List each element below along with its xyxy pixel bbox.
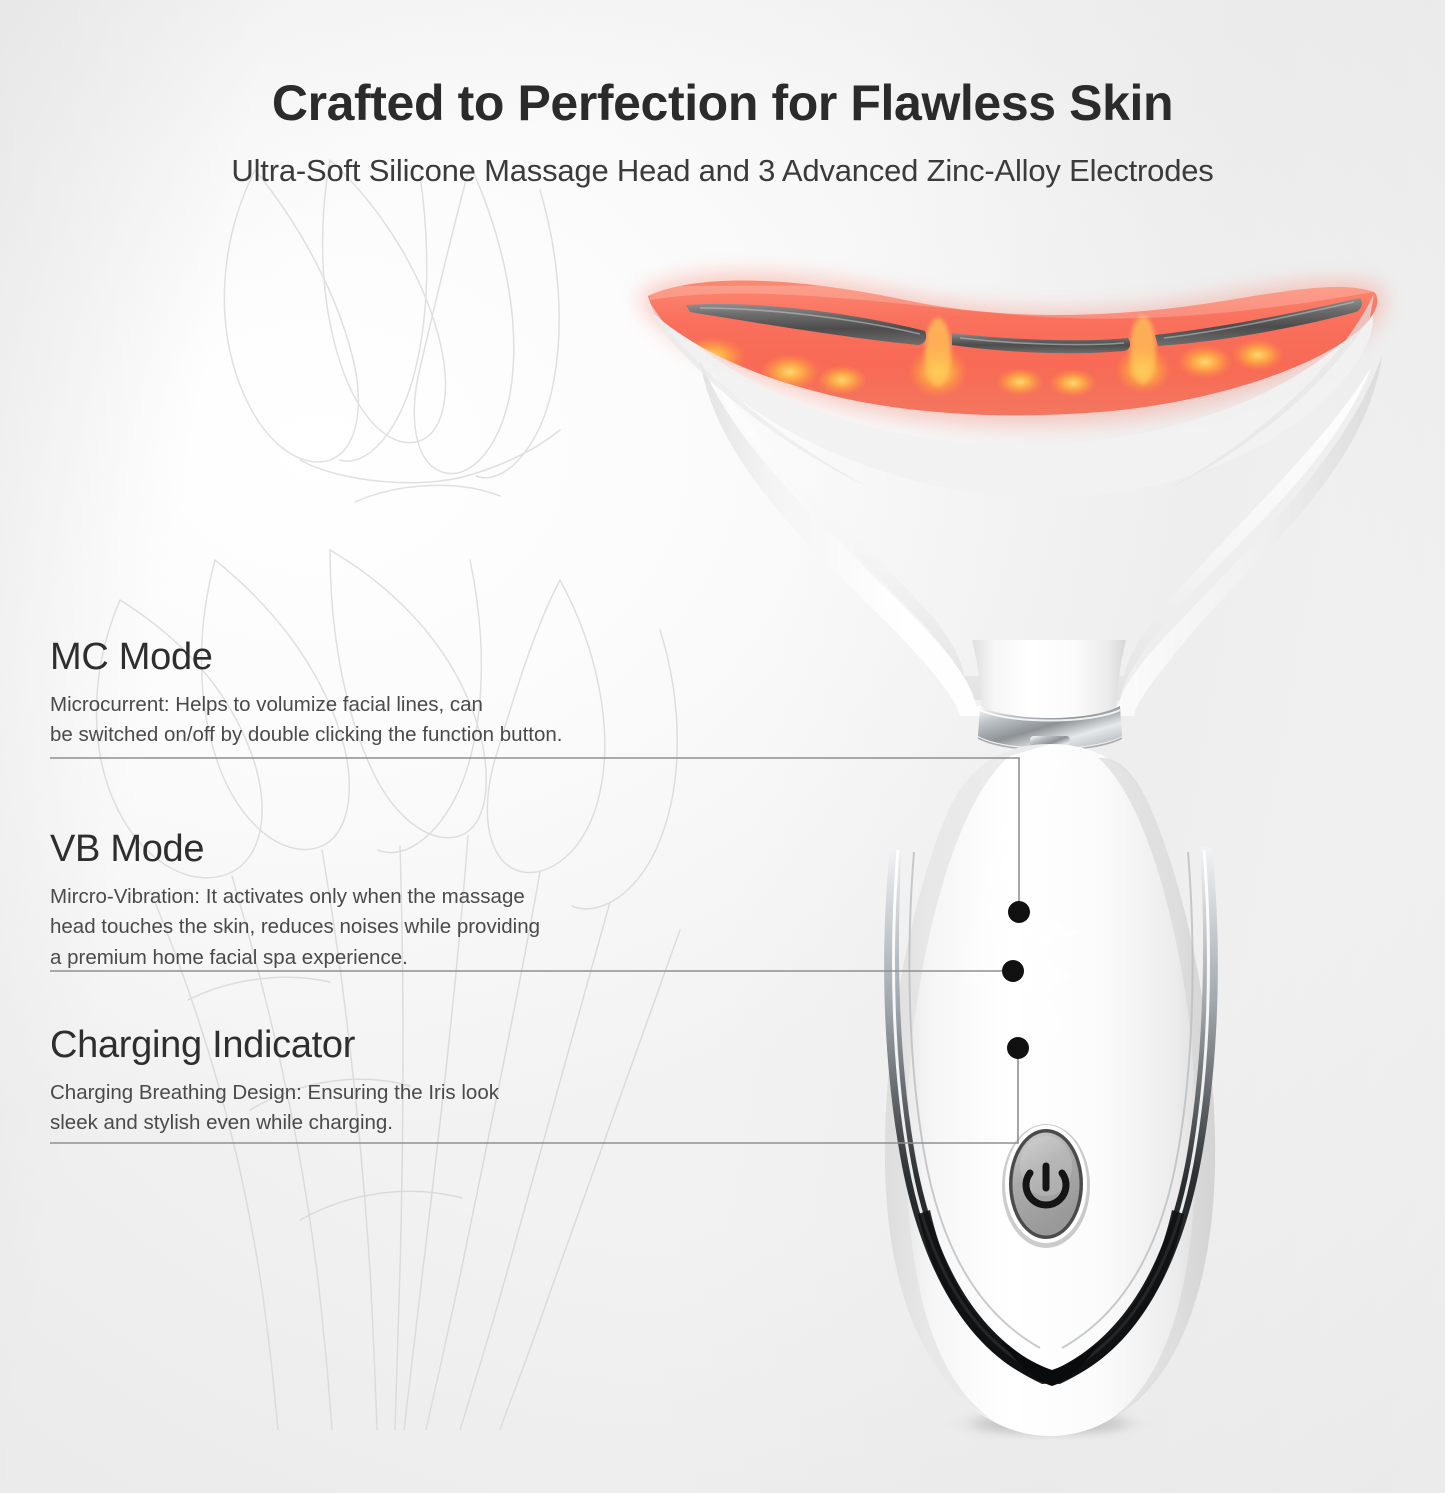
feature-block-vb-mode: VB Mode Mircro-Vibration: It activates o… xyxy=(50,830,540,973)
feature-body-vb-mode: Mircro-Vibration: It activates only when… xyxy=(50,882,540,973)
feature-block-charging-indicator: Charging Indicator Charging Breathing De… xyxy=(50,1026,499,1139)
header-block: Crafted to Perfection for Flawless Skin … xyxy=(0,76,1445,189)
page-subtitle: Ultra-Soft Silicone Massage Head and 3 A… xyxy=(0,153,1445,189)
feature-title-mc-mode: MC Mode xyxy=(50,638,562,678)
feature-title-charging-indicator: Charging Indicator xyxy=(50,1026,499,1066)
feature-body-charging-indicator: Charging Breathing Design: Ensuring the … xyxy=(50,1078,499,1139)
feature-block-mc-mode: MC Mode Microcurrent: Helps to volumize … xyxy=(50,638,562,751)
feature-body-mc-mode: Microcurrent: Helps to volumize facial l… xyxy=(50,690,562,751)
page-title: Crafted to Perfection for Flawless Skin xyxy=(0,76,1445,131)
feature-title-vb-mode: VB Mode xyxy=(50,830,540,870)
